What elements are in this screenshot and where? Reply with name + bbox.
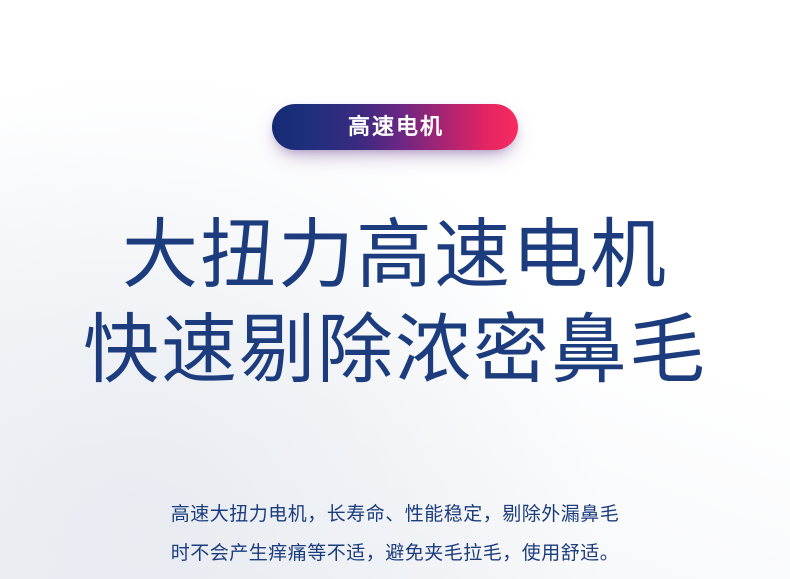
body-description: 高速大扭力电机，长寿命、性能稳定，剔除外漏鼻毛 时不会产生痒痛等不适，避免夹毛拉… (171, 495, 620, 573)
feature-badge: 高速电机 (272, 104, 518, 150)
badge-container: 高速电机 (272, 104, 518, 150)
body-description-line-2: 时不会产生痒痛等不适，避免夹毛拉毛，使用舒适。 (171, 534, 620, 573)
product-feature-banner: 高速电机 大扭力高速电机 快速剔除浓密鼻毛 高速大扭力电机，长寿命、性能稳定，剔… (0, 0, 790, 579)
headline-line-2: 快速剔除浓密鼻毛 (83, 303, 707, 398)
page-title: 大扭力高速电机 快速剔除浓密鼻毛 (83, 208, 707, 398)
headline-line-1: 大扭力高速电机 (83, 208, 707, 303)
body-description-line-1: 高速大扭力电机，长寿命、性能稳定，剔除外漏鼻毛 (171, 495, 620, 534)
feature-badge-label: 高速电机 (346, 116, 444, 138)
